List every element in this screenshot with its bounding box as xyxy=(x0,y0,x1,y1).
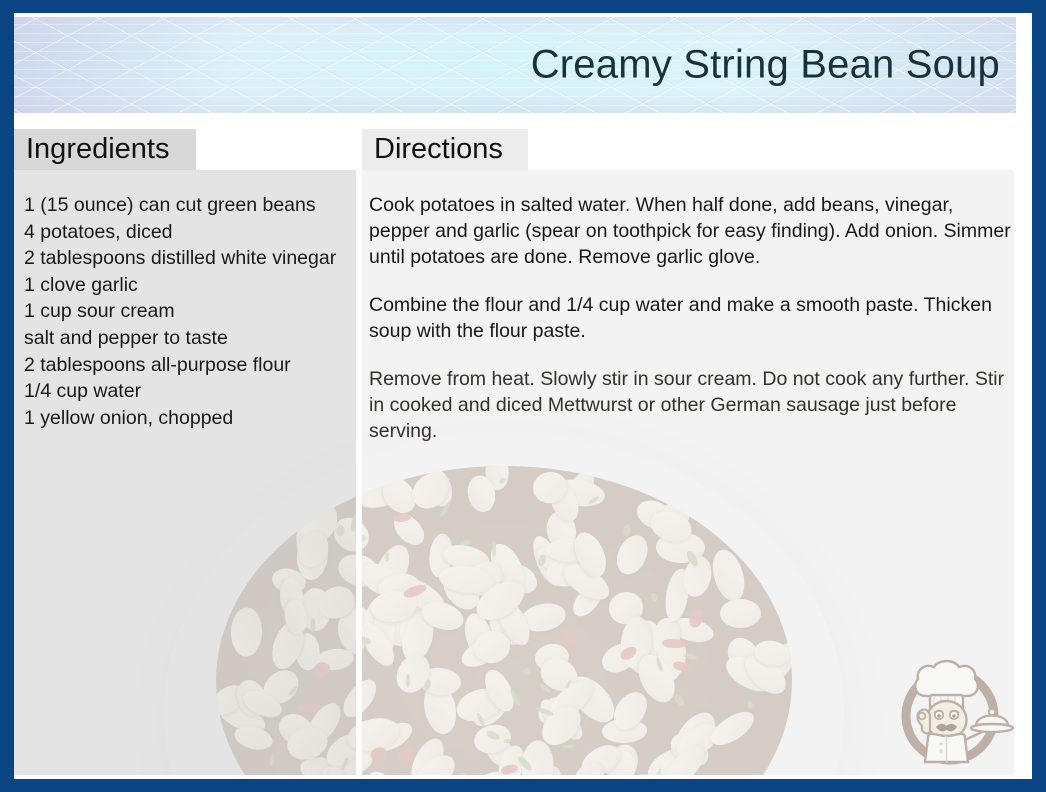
directions-heading: Directions xyxy=(362,133,503,166)
direction-step: Cook potatoes in salted water. When half… xyxy=(369,192,1017,270)
directions-section-tab: Directions xyxy=(362,129,528,170)
ingredients-list: 1 (15 ounce) can cut green beans4 potato… xyxy=(24,192,354,431)
header-banner: Creamy String Bean Soup xyxy=(14,17,1016,113)
direction-step: Remove from heat. Slowly stir in sour cr… xyxy=(369,366,1017,444)
recipe-card-frame: Creamy String Bean Soup Ingredients Dire… xyxy=(0,0,1046,792)
ingredient-item: 2 tablespoons all-purpose flour xyxy=(24,352,354,379)
directions-steps: Cook potatoes in salted water. When half… xyxy=(369,192,1017,444)
ingredient-item: 1 yellow onion, chopped xyxy=(24,405,354,432)
ingredient-item: salt and pepper to taste xyxy=(24,325,354,352)
ingredients-heading: Ingredients xyxy=(14,133,170,166)
chef-logo xyxy=(892,650,1018,770)
ingredient-item: 4 potatoes, diced xyxy=(24,219,354,246)
ingredient-item: 1/4 cup water xyxy=(24,378,354,405)
ingredient-item: 1 (15 ounce) can cut green beans xyxy=(24,192,354,219)
recipe-title: Creamy String Bean Soup xyxy=(531,43,1000,88)
ingredient-item: 1 cup sour cream xyxy=(24,298,354,325)
ingredient-item: 1 clove garlic xyxy=(24,272,354,299)
ingredient-item: 2 tablespoons distilled white vinegar xyxy=(24,245,354,272)
direction-step: Combine the flour and 1/4 cup water and … xyxy=(369,292,1017,344)
ingredients-section-tab: Ingredients xyxy=(14,129,196,170)
